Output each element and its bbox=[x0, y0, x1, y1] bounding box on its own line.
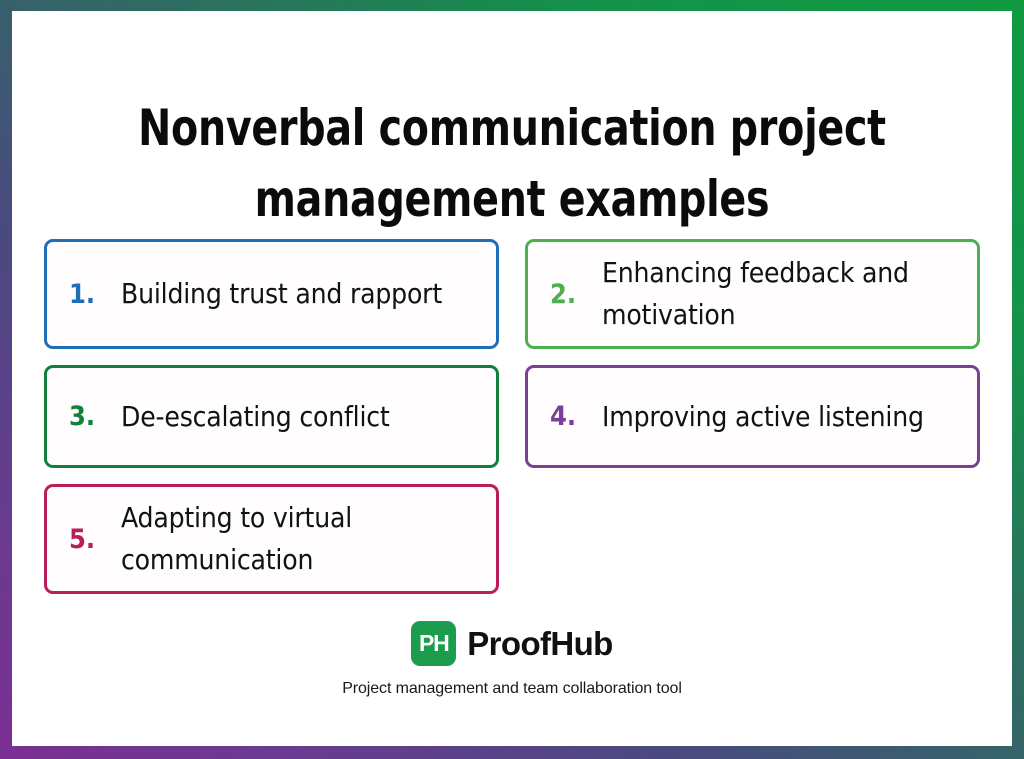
list-item-5[interactable]: 5. Adapting to virtual communication bbox=[44, 484, 499, 594]
infographic-canvas: Nonverbal communication project manageme… bbox=[0, 0, 1024, 759]
page-title-line-1: Nonverbal communication project bbox=[72, 93, 952, 164]
list-item-label: Improving active listening bbox=[602, 396, 961, 438]
list-item-number: 1. bbox=[69, 281, 121, 308]
brand-name: ProofHub bbox=[467, 625, 613, 663]
list-item-2[interactable]: 2. Enhancing feedback and motivation bbox=[525, 239, 980, 349]
infographic-card: Nonverbal communication project manageme… bbox=[12, 11, 1012, 746]
list-item-label: Enhancing feedback and motivation bbox=[602, 252, 961, 336]
list-item-3[interactable]: 3. De-escalating conflict bbox=[44, 365, 499, 468]
brand-tagline: Project management and team collaboratio… bbox=[12, 680, 1012, 698]
list-item-label: Building trust and rapport bbox=[121, 273, 480, 315]
list-item-number: 2. bbox=[550, 281, 602, 308]
page-title-line-2: management examples bbox=[72, 164, 952, 235]
examples-list: 1. Building trust and rapport 2. Enhanci… bbox=[44, 239, 980, 594]
proofhub-mark-icon: PH bbox=[411, 621, 456, 666]
list-item-label: Adapting to virtual communication bbox=[121, 497, 480, 581]
list-item-number: 4. bbox=[550, 403, 602, 430]
footer: PH ProofHub Project management and team … bbox=[12, 621, 1012, 698]
list-item-label: De-escalating conflict bbox=[121, 396, 480, 438]
proofhub-logo[interactable]: PH ProofHub bbox=[12, 621, 1012, 666]
list-item-number: 3. bbox=[69, 403, 121, 430]
list-item-number: 5. bbox=[69, 526, 121, 553]
list-item-4[interactable]: 4. Improving active listening bbox=[525, 365, 980, 468]
list-item-1[interactable]: 1. Building trust and rapport bbox=[44, 239, 499, 349]
page-title: Nonverbal communication project manageme… bbox=[72, 93, 952, 235]
